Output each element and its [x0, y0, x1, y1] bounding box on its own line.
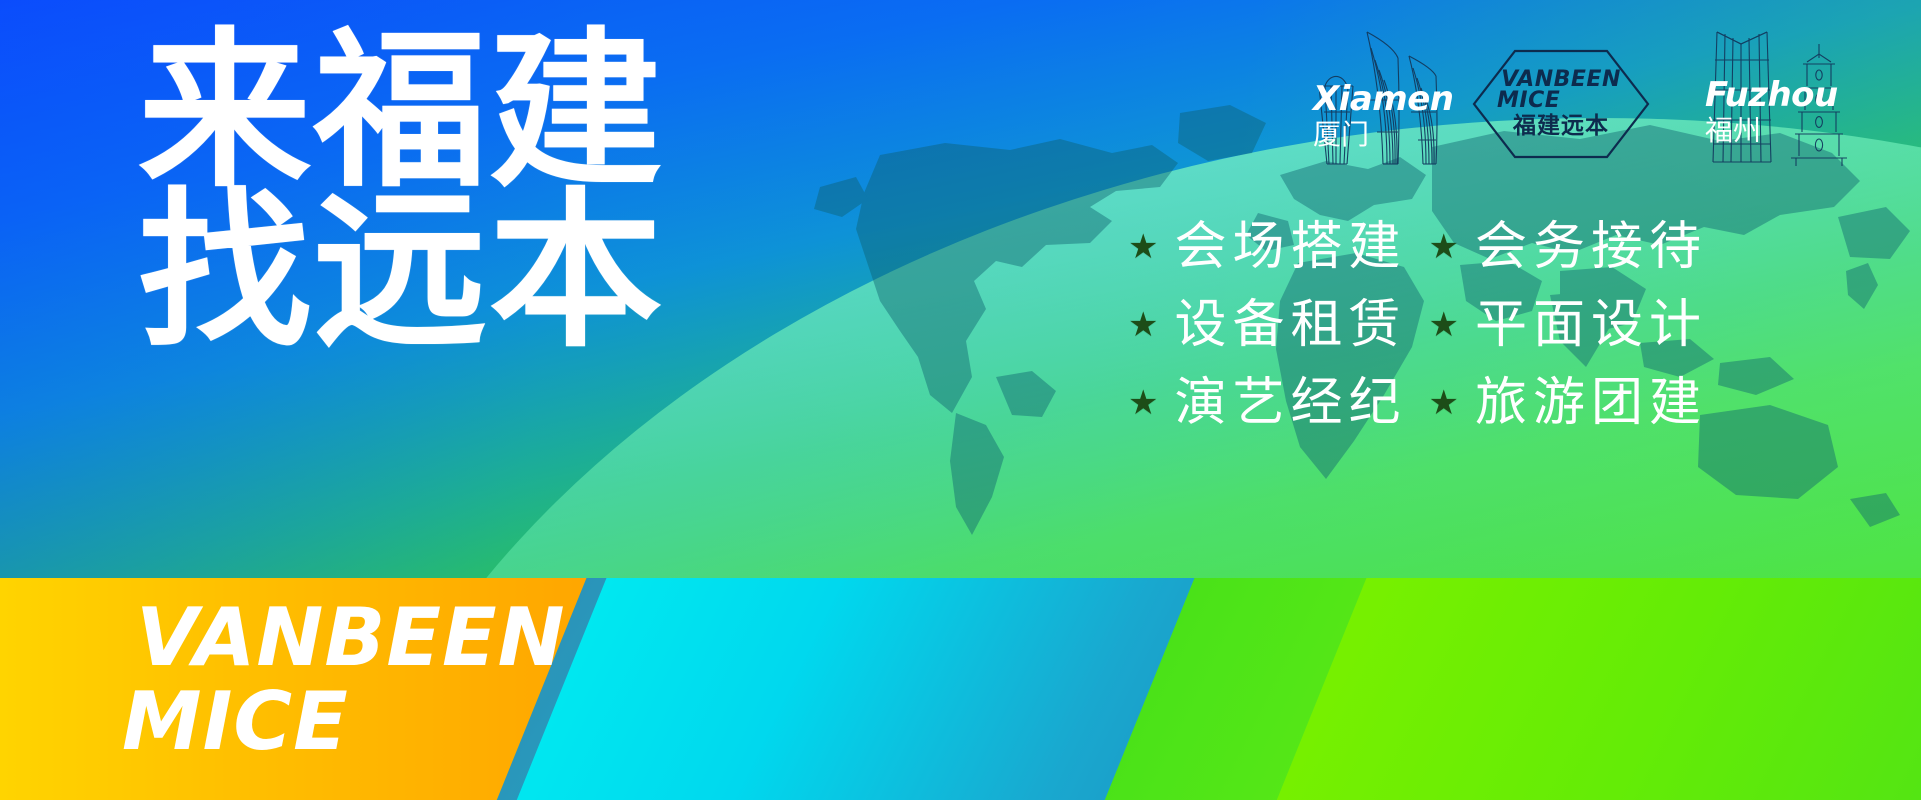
- star-icon: ★: [1429, 308, 1459, 342]
- services-list: ★ 会场搭建 ★ 会务接待 ★ 设备租赁 ★ 平面设计 ★ 演艺经纪 ★ 旅游团…: [1128, 208, 1707, 442]
- city-xiamen-en: Xiamen: [1313, 82, 1454, 116]
- service-label: 会场搭建: [1174, 219, 1406, 275]
- star-icon: ★: [1128, 386, 1158, 420]
- service-item: ★ 会场搭建: [1128, 208, 1407, 286]
- service-item: ★ 演艺经纪: [1128, 364, 1407, 442]
- star-icon: ★: [1429, 230, 1459, 264]
- star-icon: ★: [1128, 308, 1158, 342]
- bottom-brand-line-1: VANBEEN: [136, 596, 566, 680]
- service-item: ★ 平面设计: [1429, 286, 1708, 364]
- service-label: 设备租赁: [1174, 297, 1406, 353]
- service-label: 平面设计: [1475, 297, 1707, 353]
- headline-line-1: 来福建: [138, 36, 664, 188]
- vanbeen-hex-logo: VANBEEN MICE 福建远本: [1471, 48, 1651, 160]
- promo-banner: 来福建 找远本: [0, 0, 1921, 800]
- service-item: ★ 旅游团建: [1429, 364, 1708, 442]
- city-fuzhou-cn: 福州: [1705, 114, 1838, 148]
- hex-logo-text: VANBEEN MICE 福建远本: [1471, 48, 1651, 160]
- banner-stage: 来福建 找远本: [0, 0, 1921, 578]
- city-xiamen-cn: 厦门: [1313, 118, 1454, 152]
- city-fuzhou-en: Fuzhou: [1705, 78, 1838, 112]
- headline: 来福建 找远本: [138, 36, 654, 348]
- bottom-brand-line-2: MICE: [122, 680, 566, 764]
- service-label: 演艺经纪: [1174, 375, 1406, 431]
- headline-line-2: 找远本: [138, 196, 664, 348]
- service-item: ★ 设备租赁: [1128, 286, 1407, 364]
- hex-logo-line-1: VANBEEN: [1501, 69, 1621, 90]
- city-label-xiamen: Xiamen 厦门: [1313, 82, 1454, 152]
- hex-logo-line-3: 福建远本: [1513, 113, 1609, 139]
- diagonal-band-green-light: [1269, 578, 1921, 800]
- service-item: ★ 会务接待: [1429, 208, 1708, 286]
- service-label: 会务接待: [1475, 219, 1707, 275]
- bottom-brand-bar: VANBEEN MICE: [0, 578, 1921, 800]
- bottom-brand-logo: VANBEEN MICE: [136, 596, 566, 764]
- service-label: 旅游团建: [1475, 375, 1707, 431]
- star-icon: ★: [1128, 230, 1158, 264]
- hex-logo-line-2: MICE: [1497, 90, 1560, 112]
- city-label-fuzhou: Fuzhou 福州: [1705, 78, 1838, 148]
- city-logo-lockup: VANBEEN MICE 福建远本 Xiamen 厦门 Fuzhou 福州: [1305, 8, 1905, 173]
- star-icon: ★: [1429, 386, 1459, 420]
